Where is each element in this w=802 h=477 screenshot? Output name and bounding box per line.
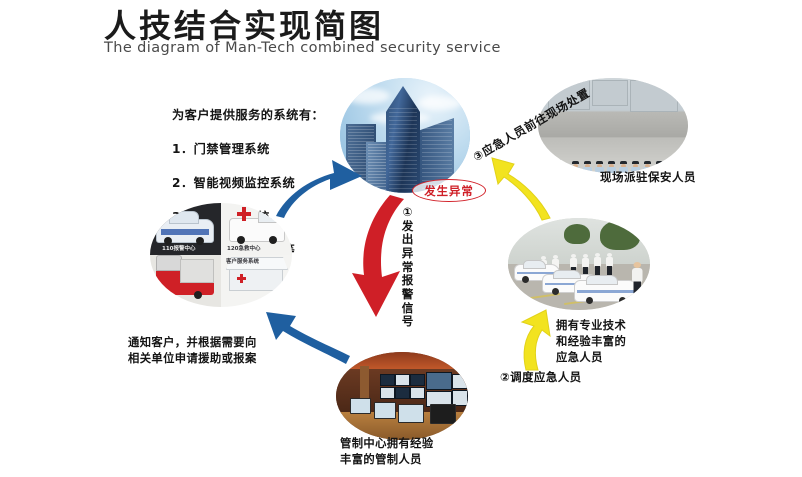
security-guards-photo [538,78,688,173]
video-wall-screen [380,374,395,386]
truck-wheel [160,291,168,299]
video-wall-screen [395,374,410,386]
car-wheel [269,236,277,244]
systems-list-item-1: 1．门禁管理系统 [172,142,270,156]
patrol-cars-photo [508,218,650,310]
car-stripe [577,290,634,292]
service-building [229,265,283,291]
control-center-label: 管制中心拥有经验 丰富的管制人员 [340,436,434,469]
systems-list-heading: 为客户提供服务的系统有： [172,107,324,124]
car-stripe [161,229,209,235]
cloud-shape [344,88,390,104]
truck-wheel [194,291,202,299]
background-building [630,80,678,112]
car-wheel [586,297,593,304]
red-cross-icon [242,207,246,221]
photo-quadrant-ambulance: 120急救中心 [221,203,292,255]
step2-dispatch-label: ②调度应急人员 [500,370,582,386]
video-wall-screen [410,387,425,399]
page-subtitle: The diagram of Man-Tech combined securit… [104,40,501,56]
skyscraper-photo [340,78,470,193]
guards-label: 现场派驻保安人员 [600,170,696,186]
operator-monitor [430,404,456,424]
photo-quadrant-firetruck [150,255,221,307]
step1-alarm-label: ①发出异常报警信号 [399,206,416,329]
photo-caption-service: 客户服务系统 [226,257,259,265]
video-wall-screen [395,387,410,399]
car-wheel [237,236,245,244]
operator-monitor [350,398,371,414]
palm-tree [600,220,640,250]
control-room-photo [336,352,468,440]
video-wall-screen [426,372,452,390]
car-wheel [196,237,204,245]
yellow-arrow-up [512,310,558,372]
notify-client-label: 通知客户，并根据需要向 相关单位申请援助或报案 [128,335,257,368]
video-wall-screen [452,374,468,389]
photo-quadrant-police: 110报警中心 [150,203,221,255]
video-wall-screen [380,387,395,399]
palm-tree [564,224,590,244]
patrol-car [574,280,638,302]
background-building [592,80,628,106]
emergency-resources-photo: 110报警中心 120急救中心 客户服务系统 [150,203,292,307]
ceiling [336,352,468,369]
car-wheel [552,288,559,295]
systems-list-item-2: 2．智能视频监控系统 [172,176,295,190]
cloud-shape [418,96,462,110]
emergency-staff-label: 拥有专业技术 和经验丰富的 应急人员 [556,318,626,366]
car-wheel [619,297,626,304]
car-wheel [522,276,529,283]
truck-body [180,259,214,283]
video-wall-screen [410,374,425,386]
photo-caption-medical: 120急救中心 [227,244,260,252]
uniform-shirt [552,166,563,173]
diagram-canvas: 人技结合实现简图 The diagram of Man-Tech combine… [0,0,802,477]
photo-quadrant-service: 客户服务系统 [221,255,292,307]
red-cross-icon [240,274,243,283]
photo-caption-police: 110报警中心 [162,244,195,252]
truck-cab [156,255,182,271]
operator-monitor [398,404,424,423]
abnormal-badge: 发生异常 [412,179,486,202]
operator-monitor [374,402,396,419]
